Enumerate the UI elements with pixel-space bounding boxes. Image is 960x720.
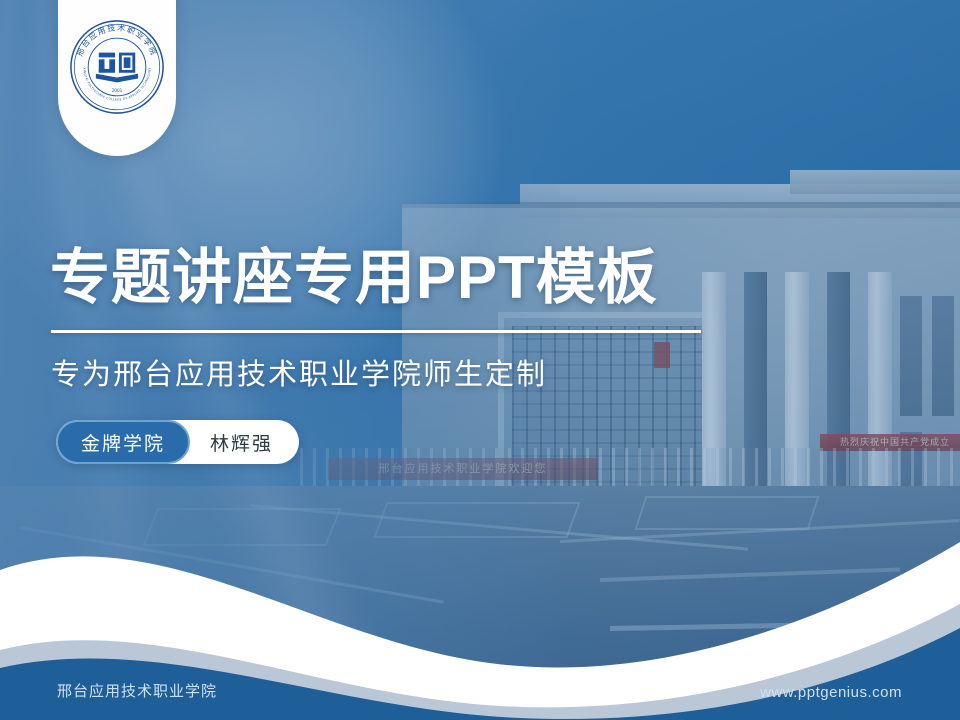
college-seal-icon: 邢台应用技术职业学院 XINGTAI POLYTECHNIC COLLEGE O… xyxy=(69,19,165,115)
title-divider xyxy=(51,330,701,333)
svg-text:2001: 2001 xyxy=(112,88,123,93)
footer-website[interactable]: www.pptgenius.com xyxy=(760,684,902,701)
status-badge: 金牌学院 林辉强 xyxy=(56,420,299,464)
footer-institution: 邢台应用技术职业学院 xyxy=(57,680,217,701)
presentation-slide: 热烈庆祝中国共产党成立 邢台应用技术职业学院欢迎您 xyxy=(0,0,960,720)
page-title: 专题讲座专用PPT模板 xyxy=(50,243,658,312)
logo-tab: 邢台应用技术职业学院 XINGTAI POLYTECHNIC COLLEGE O… xyxy=(58,0,176,156)
badge-primary-label: 金牌学院 xyxy=(56,420,190,464)
svg-text:邢台应用技术职业学院: 邢台应用技术职业学院 xyxy=(75,22,159,57)
page-subtitle: 专为邢台应用技术职业学院师生定制 xyxy=(51,351,547,393)
badge-presenter-name: 林辉强 xyxy=(190,429,299,456)
svg-text:XINGTAI POLYTECHNIC COLLEGE OF: XINGTAI POLYTECHNIC COLLEGE OF APPLIED T… xyxy=(82,67,151,101)
